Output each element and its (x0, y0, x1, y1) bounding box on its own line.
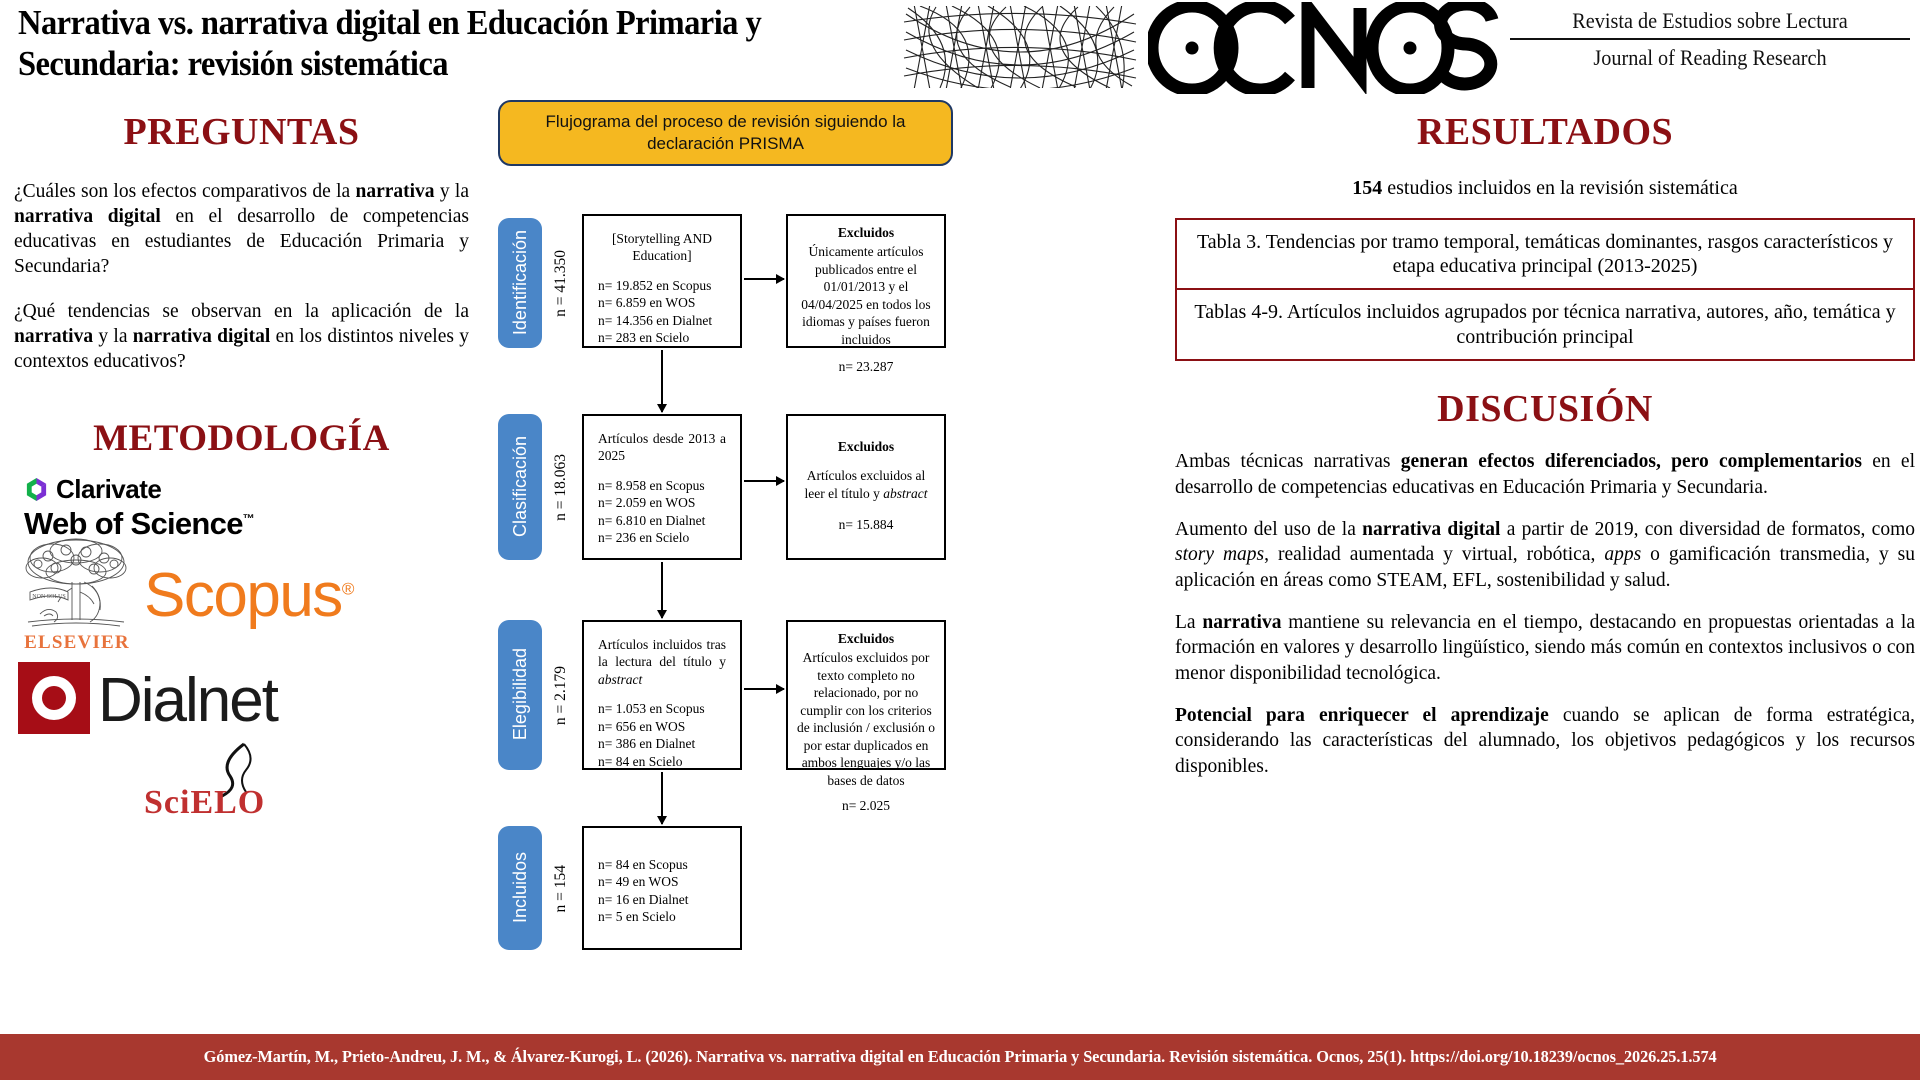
preguntas-heading: PREGUNTAS (14, 110, 469, 154)
flow-box-identificacion-lines: n= 19.852 en Scopus n= 6.859 en WOS n= 1… (598, 277, 726, 347)
flow-line: n= 19.852 en Scopus (598, 277, 726, 295)
scopus-label-row: Scopus® (144, 560, 353, 631)
svg-text:NON SOLUS: NON SOLUS (32, 594, 66, 600)
database-logos: Clarivate Web of Science™ (14, 474, 469, 824)
d2-c: , realidad aumentada y virtual, robótica… (1264, 544, 1604, 565)
result-count-number: 154 (1352, 177, 1382, 199)
elsevier-tree-icon: NON SOLUS (22, 536, 130, 634)
clarivate-label: Clarivate (56, 474, 161, 505)
flow-line: n= 236 en Scielo (598, 529, 726, 547)
question-2: ¿Qué tendencias se observan en la aplica… (14, 300, 469, 375)
excluded-1-n: n= 23.287 (796, 358, 936, 376)
result-count: 154 estudios incluidos en la revisión si… (1175, 176, 1915, 202)
d2-a: Aumento del uso de la (1175, 519, 1362, 540)
stage-n-clasificacion-label: n = 18.063 (552, 454, 570, 521)
discussion-paragraph-1: Ambas técnicas narrativas generan efecto… (1175, 449, 1915, 500)
q1-bold1: narrativa (355, 181, 434, 202)
ocnos-subtitle-es: Revista de Estudios sobre Lectura (1526, 8, 1894, 34)
scopus-label: Scopus (144, 561, 342, 630)
flow-box-excluidos-3: Excluidos Artículos excluidos por texto … (786, 620, 946, 770)
ocnos-subtitle-en: Journal of Reading Research (1526, 45, 1894, 71)
flow-box-clasificacion-title: Artículos desde 2013 a 2025 (598, 430, 726, 465)
flow-line: n= 16 en Dialnet (598, 891, 726, 909)
elegibilidad-title-italic: abstract (598, 672, 642, 687)
elsevier-label: ELSEVIER (22, 632, 132, 654)
tables-4-9-row: Tablas 4-9. Artículos incluidos agrupado… (1177, 288, 1913, 359)
q2-part1: ¿Qué tendencias se observan en la aplica… (14, 301, 469, 322)
stage-n-elegibilidad-label: n = 2.179 (552, 666, 570, 725)
discusion-heading: DISCUSIÓN (1175, 387, 1915, 431)
flow-line: n= 84 en Scopus (598, 856, 726, 874)
poster-header: Narrativa vs. narrativa digital en Educa… (0, 0, 1920, 96)
center-column: Flujograma del proceso de revisión sigui… (490, 100, 960, 1004)
arrow-clasificacion-to-excluded (744, 480, 784, 482)
d3-b: mantiene su relevancia en el tiempo, des… (1175, 612, 1915, 684)
scielo-logo: SciELO (134, 742, 324, 832)
arrow-identificacion-to-excluded (744, 278, 784, 280)
d2-italic2: apps (1604, 544, 1641, 565)
flow-box-clasificacion: Artículos desde 2013 a 2025 n= 8.958 en … (582, 414, 742, 560)
d4-bold: Potencial para enriquecer el aprendizaje (1175, 705, 1549, 726)
excluded-2-text-italic: abstract (883, 486, 927, 501)
q1-part2: y la (435, 181, 469, 202)
scribble-basket-icon (900, 2, 1140, 92)
flow-line: n= 14.356 en Dialnet (598, 312, 726, 330)
flow-box-excluidos-2: Excluidos Artículos excluidos al leer el… (786, 414, 946, 560)
d1-bold: generan efectos diferenciados, pero comp… (1401, 451, 1862, 472)
flow-line: n= 1.053 en Scopus (598, 700, 726, 718)
elegibilidad-title-plain: Artículos incluidos tras la lectura del … (598, 637, 726, 670)
q1-part1: ¿Cuáles son los efectos comparativos de … (14, 181, 355, 202)
flow-box-incluidos: n= 84 en Scopus n= 49 en WOS n= 16 en Di… (582, 826, 742, 950)
citation-text: Gómez-Martín, M., Prieto-Andreu, J. M., … (204, 1047, 1717, 1067)
citation-footer: Gómez-Martín, M., Prieto-Andreu, J. M., … (0, 1034, 1920, 1080)
results-tables-box: Tabla 3. Tendencias por tramo temporal, … (1175, 218, 1915, 362)
stage-tab-clasificacion-label: Clasificación (510, 436, 531, 537)
stage-tab-clasificacion: Clasificación (498, 414, 542, 560)
prisma-flowchart: Identificación n = 41.350 [Storytelling … (490, 214, 960, 1004)
stage-n-identificacion-label: n = 41.350 (552, 250, 570, 317)
flow-box-elegibilidad: Artículos incluidos tras la lectura del … (582, 620, 742, 770)
d2-b: a partir de 2019, con diversidad de form… (1500, 519, 1915, 540)
web-of-science-logo: Clarivate Web of Science™ (24, 474, 294, 542)
ocnos-wordmark (1148, 2, 1500, 94)
dialnet-dot-shape (42, 686, 66, 710)
discussion-paragraph-4: Potencial para enriquecer el aprendizaje… (1175, 703, 1915, 779)
flow-box-elegibilidad-title: Artículos incluidos tras la lectura del … (598, 636, 726, 689)
dialnet-label: Dialnet (98, 665, 277, 736)
ocnos-logo: Revista de Estudios sobre Lectura Journa… (900, 0, 1920, 96)
flow-line: n= 6.810 en Dialnet (598, 512, 726, 530)
d2-italic1: story maps (1175, 544, 1264, 565)
dialnet-logo: Dialnet (18, 662, 398, 738)
flow-box-incluidos-lines: n= 84 en Scopus n= 49 en WOS n= 16 en Di… (598, 856, 726, 926)
stage-n-incluidos-label: n = 154 (552, 865, 570, 913)
stage-n-incluidos: n = 154 (550, 838, 572, 940)
stage-tab-incluidos: Incluidos (498, 826, 542, 950)
flow-line: n= 656 en WOS (598, 718, 726, 736)
scielo-label: SciELO (144, 784, 265, 822)
resultados-heading: RESULTADOS (1175, 110, 1915, 154)
clarivate-icon (24, 477, 49, 502)
excluded-3-n: n= 2.025 (796, 797, 936, 815)
metodologia-heading: METODOLOGÍA (14, 417, 469, 460)
stage-n-elegibilidad: n = 2.179 (550, 632, 572, 760)
discussion-paragraph-2: Aumento del uso de la narrativa digital … (1175, 517, 1915, 593)
result-count-text: estudios incluidos en la revisión sistem… (1382, 177, 1738, 199)
d3-a: La (1175, 612, 1202, 633)
excluded-2-title: Excluidos (796, 438, 936, 456)
d3-bold: narrativa (1202, 612, 1281, 633)
stage-tab-identificacion: Identificación (498, 218, 542, 348)
discussion-paragraph-3: La narrativa mantiene su relevancia en e… (1175, 610, 1915, 686)
excluded-1-text: Únicamente artículos publicados entre el… (796, 243, 936, 348)
q2-bold2: narrativa digital (133, 326, 270, 347)
flow-box-excluidos-1: Excluidos Únicamente artículos publicado… (786, 214, 946, 348)
arrow-row2-to-row3 (661, 562, 663, 618)
right-column: RESULTADOS 154 estudios incluidos en la … (1175, 110, 1915, 796)
flow-box-clasificacion-lines: n= 8.958 en Scopus n= 2.059 en WOS n= 6.… (598, 477, 726, 547)
ocnos-subtitle: Revista de Estudios sobre Lectura Journa… (1510, 8, 1910, 71)
arrow-row3-to-row4 (661, 772, 663, 824)
q2-bold1: narrativa (14, 326, 93, 347)
page-title: Narrativa vs. narrativa digital en Educa… (18, 2, 836, 85)
flow-line: n= 386 en Dialnet (598, 735, 726, 753)
arrow-elegibilidad-to-excluded (744, 688, 784, 690)
left-column: PREGUNTAS ¿Cuáles son los efectos compar… (14, 110, 469, 824)
scopus-logo: NON SOLUS ELSEVIER Scopus® (22, 536, 392, 656)
clarivate-row: Clarivate (24, 474, 294, 505)
excluded-3-text: Artículos excluidos por texto completo n… (796, 649, 936, 789)
stage-tab-elegibilidad-label: Elegibilidad (510, 648, 531, 740)
flow-box-identificacion-title: [Storytelling AND Education] (598, 230, 726, 265)
q2-part2: y la (93, 326, 133, 347)
flow-line: n= 5 en Scielo (598, 908, 726, 926)
flow-line: n= 283 en Scielo (598, 329, 726, 347)
excluded-2-n: n= 15.884 (796, 516, 936, 534)
flow-box-identificacion: [Storytelling AND Education] n= 19.852 e… (582, 214, 742, 348)
stage-tab-elegibilidad: Elegibilidad (498, 620, 542, 770)
excluded-3-title: Excluidos (796, 630, 936, 648)
dialnet-icon (18, 662, 90, 734)
flow-line: n= 6.859 en WOS (598, 294, 726, 312)
flow-line: n= 49 en WOS (598, 873, 726, 891)
table-3-row: Tabla 3. Tendencias por tramo temporal, … (1177, 220, 1913, 289)
flow-box-elegibilidad-lines: n= 1.053 en Scopus n= 656 en WOS n= 386 … (598, 700, 726, 770)
stage-n-clasificacion: n = 18.063 (550, 426, 572, 550)
d1-a: Ambas técnicas narrativas (1175, 451, 1401, 472)
excluded-2-text: Artículos excluidos al leer el título y … (796, 467, 936, 502)
question-1: ¿Cuáles son los efectos comparativos de … (14, 180, 469, 280)
stage-tab-incluidos-label: Incluidos (510, 852, 531, 923)
stage-tab-identificacion-label: Identificación (510, 230, 531, 335)
flow-line: n= 84 en Scielo (598, 753, 726, 771)
arrow-row1-to-row2 (661, 350, 663, 412)
scopus-registered-mark: ® (342, 579, 353, 598)
excluded-1-title: Excluidos (796, 224, 936, 242)
prisma-banner: Flujograma del proceso de revisión sigui… (498, 100, 953, 166)
flow-line: n= 2.059 en WOS (598, 494, 726, 512)
stage-n-identificacion: n = 41.350 (550, 228, 572, 340)
q1-bold2: narrativa digital (14, 206, 161, 227)
flow-line: n= 8.958 en Scopus (598, 477, 726, 495)
wos-trademark: ™ (243, 511, 254, 525)
poster-canvas: Narrativa vs. narrativa digital en Educa… (0, 0, 1920, 1080)
ocnos-subtitle-divider (1510, 38, 1910, 40)
d2-bold: narrativa digital (1362, 519, 1500, 540)
